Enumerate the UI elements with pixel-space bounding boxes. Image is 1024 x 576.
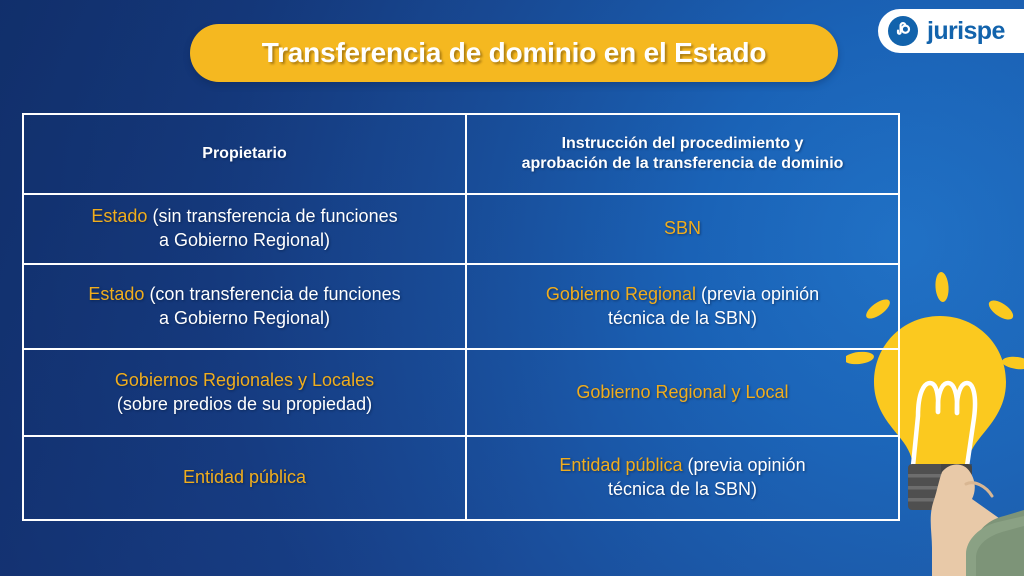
header-right-line1: Instrucción del procedimiento y	[562, 135, 804, 152]
row2-right-highlight: Gobierno Regional	[546, 284, 696, 304]
row3-cell-instruccion: Gobierno Regional y Local	[467, 350, 898, 435]
row2-right-rest1: (previa opinión	[696, 284, 819, 304]
jurispe-monogram-icon	[888, 16, 918, 46]
row3-right-text: Gobierno Regional y Local	[576, 381, 788, 405]
row1-left-highlight: Estado	[91, 206, 147, 226]
header-label-right: Instrucción del procedimiento y aprobaci…	[522, 134, 844, 175]
brand-name: jurispe	[927, 17, 1005, 46]
header-label-left: Propietario	[202, 144, 286, 164]
header-cell-propietario: Propietario	[24, 115, 467, 193]
brand-logo[interactable]: jurispe	[878, 9, 1024, 53]
row3-cell-propietario: Gobiernos Regionales y Locales(sobre pre…	[24, 350, 467, 435]
row4-cell-instruccion: Entidad pública (previa opinióntécnica d…	[467, 437, 898, 519]
page-title: Transferencia de dominio en el Estado	[262, 37, 767, 69]
row1-right-text: SBN	[664, 217, 701, 241]
row3-left-rest2: (sobre predios de su propiedad)	[117, 394, 372, 414]
row2-cell-instruccion: Gobierno Regional (previa opinióntécnica…	[467, 265, 898, 348]
table-row: Entidad pública Entidad pública (previa …	[24, 437, 898, 519]
slide-canvas: Transferencia de dominio en el Estado ju…	[0, 0, 1024, 576]
header-cell-instruccion: Instrucción del procedimiento y aprobaci…	[467, 115, 898, 193]
row2-left-rest2: a Gobierno Regional)	[159, 308, 330, 328]
row3-right-highlight: Gobierno Regional y Local	[576, 382, 788, 402]
table-row: Estado (con transferencia de funcionesa …	[24, 265, 898, 350]
row4-right-text: Entidad pública (previa opinióntécnica d…	[559, 454, 805, 502]
row3-left-text: Gobiernos Regionales y Locales(sobre pre…	[115, 369, 374, 417]
row3-left-highlight: Gobiernos Regionales y Locales	[115, 370, 374, 390]
row4-right-rest2: técnica de la SBN)	[608, 479, 757, 499]
row2-cell-propietario: Estado (con transferencia de funcionesa …	[24, 265, 467, 348]
row1-left-rest1: (sin transferencia de funciones	[147, 206, 397, 226]
row1-cell-instruccion: SBN	[467, 195, 898, 263]
comparison-table: Propietario Instrucción del procedimient…	[22, 113, 900, 521]
row2-right-rest2: técnica de la SBN)	[608, 308, 757, 328]
table-row: Gobiernos Regionales y Locales(sobre pre…	[24, 350, 898, 437]
row2-left-highlight: Estado	[88, 284, 144, 304]
row1-left-text: Estado (sin transferencia de funcionesa …	[91, 205, 397, 253]
row4-left-highlight: Entidad pública	[183, 467, 306, 487]
header-right-line2: aprobación de la transferencia de domini…	[522, 155, 844, 172]
row2-left-rest1: (con transferencia de funciones	[144, 284, 400, 304]
row1-left-rest2: a Gobierno Regional)	[159, 230, 330, 250]
row4-left-text: Entidad pública	[183, 466, 306, 490]
row4-right-rest1: (previa opinión	[683, 455, 806, 475]
table-header-row: Propietario Instrucción del procedimient…	[24, 115, 898, 195]
title-banner: Transferencia de dominio en el Estado	[190, 24, 838, 82]
row1-right-highlight: SBN	[664, 218, 701, 238]
row1-cell-propietario: Estado (sin transferencia de funcionesa …	[24, 195, 467, 263]
row2-right-text: Gobierno Regional (previa opinióntécnica…	[546, 283, 819, 331]
table-row: Estado (sin transferencia de funcionesa …	[24, 195, 898, 265]
row4-cell-propietario: Entidad pública	[24, 437, 467, 519]
row2-left-text: Estado (con transferencia de funcionesa …	[88, 283, 400, 331]
row4-right-highlight: Entidad pública	[559, 455, 682, 475]
